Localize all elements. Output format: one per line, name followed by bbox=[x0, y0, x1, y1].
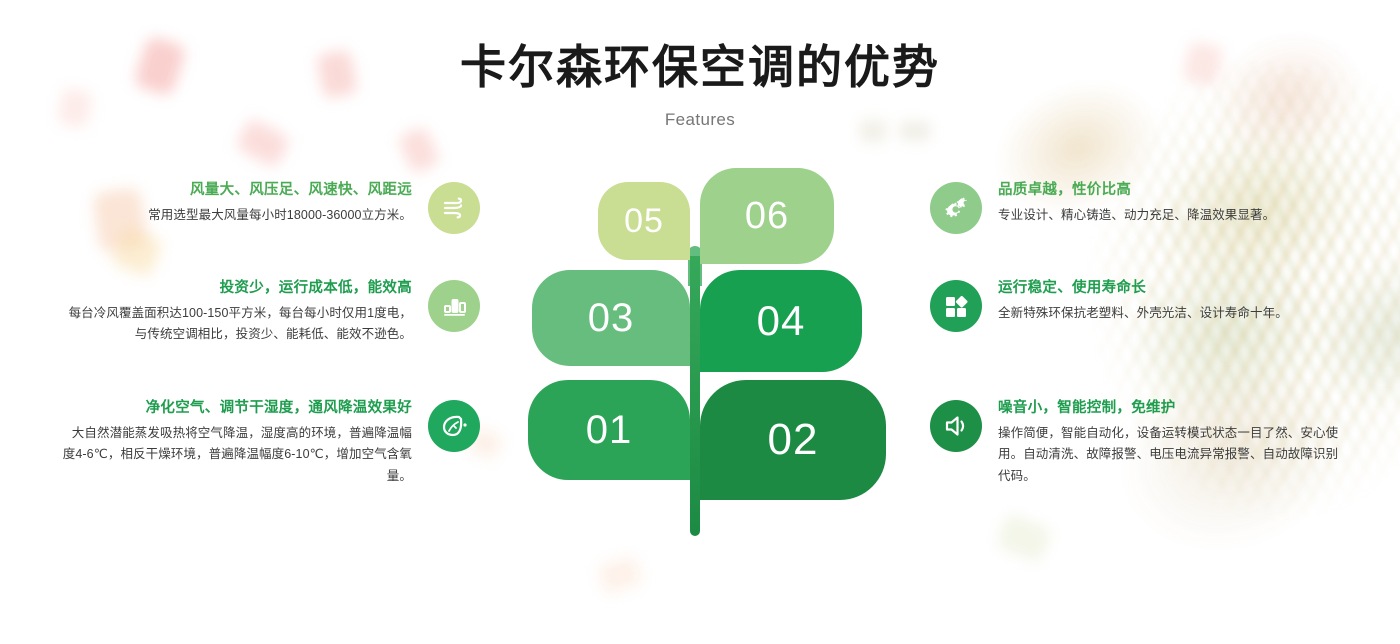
confetti-blob bbox=[995, 512, 1053, 563]
confetti-blob bbox=[397, 126, 441, 175]
slide-canvas: 卡尔森环保空调的优势 Features 风量大、风压足、风速快、风距远 常用选型… bbox=[0, 0, 1400, 644]
blocks-icon bbox=[930, 280, 982, 332]
feature-title: 风量大、风压足、风速快、风距远 bbox=[60, 180, 412, 202]
leaf-number-04[interactable]: 04 bbox=[700, 270, 862, 372]
feature-text: 风量大、风压足、风速快、风距远 常用选型最大风量每小时18000-36000立方… bbox=[60, 180, 428, 234]
leaf-number-02[interactable]: 02 bbox=[700, 380, 886, 500]
speaker-icon bbox=[930, 400, 982, 452]
slide-header: 卡尔森环保空调的优势 Features bbox=[0, 0, 1400, 130]
feature-title: 投资少，运行成本低，能效高 bbox=[60, 278, 412, 300]
feature-title: 噪音小，智能控制，免维护 bbox=[998, 398, 1350, 420]
gears-icon bbox=[930, 182, 982, 234]
feature-text: 运行稳定、使用寿命长 全新特殊环保抗老塑料、外壳光洁、设计寿命十年。 bbox=[982, 278, 1350, 332]
bar-chart-icon bbox=[428, 280, 480, 332]
feature-text: 投资少，运行成本低，能效高 每台冷风覆盖面积达100-150平方米，每台每小时仅… bbox=[60, 278, 428, 346]
feature-description: 大自然潜能蒸发吸热将空气降温，湿度高的环境，普遍降温幅度4-6℃，相反干燥环境，… bbox=[60, 423, 412, 488]
leaf-icon bbox=[428, 400, 480, 452]
page-title: 卡尔森环保空调的优势 bbox=[0, 40, 1400, 94]
leaf-number-01[interactable]: 01 bbox=[528, 380, 690, 480]
page-subtitle: Features bbox=[0, 110, 1400, 130]
feature-text: 噪音小，智能控制，免维护 操作简便，智能自动化，设备运转模式状态一目了然、安心使… bbox=[982, 398, 1350, 487]
feature-item[interactable]: 投资少，运行成本低，能效高 每台冷风覆盖面积达100-150平方米，每台每小时仅… bbox=[60, 278, 480, 346]
feature-description: 常用选型最大风量每小时18000-36000立方米。 bbox=[60, 205, 412, 227]
feature-text: 净化空气、调节干湿度，通风降温效果好 大自然潜能蒸发吸热将空气降温，湿度高的环境… bbox=[60, 398, 428, 487]
leaf-number-06[interactable]: 06 bbox=[700, 168, 834, 264]
feature-item[interactable]: 风量大、风压足、风速快、风距远 常用选型最大风量每小时18000-36000立方… bbox=[60, 180, 480, 234]
tree-stem bbox=[690, 256, 700, 536]
feature-description: 操作简便，智能自动化，设备运转模式状态一目了然、安心使用。自动清洗、故障报警、电… bbox=[998, 423, 1350, 488]
feature-item[interactable]: 噪音小，智能控制，免维护 操作简便，智能自动化，设备运转模式状态一目了然、安心使… bbox=[930, 398, 1350, 487]
leaf-number-03[interactable]: 03 bbox=[532, 270, 690, 366]
feature-description: 每台冷风覆盖面积达100-150平方米，每台每小时仅用1度电，与传统空调相比，投… bbox=[60, 303, 412, 346]
feature-description: 全新特殊环保抗老塑料、外壳光洁、设计寿命十年。 bbox=[998, 303, 1350, 325]
feature-item[interactable]: 净化空气、调节干湿度，通风降温效果好 大自然潜能蒸发吸热将空气降温，湿度高的环境… bbox=[60, 398, 480, 487]
feature-text: 品质卓越，性价比高 专业设计、精心铸造、动力充足、降温效果显著。 bbox=[982, 180, 1350, 234]
feature-title: 运行稳定、使用寿命长 bbox=[998, 278, 1350, 300]
leaf-tree-graphic: 05 06 03 04 01 02 bbox=[500, 160, 920, 580]
leaf-number-05[interactable]: 05 bbox=[598, 182, 690, 260]
feature-item[interactable]: 运行稳定、使用寿命长 全新特殊环保抗老塑料、外壳光洁、设计寿命十年。 bbox=[930, 278, 1350, 332]
feature-title: 净化空气、调节干湿度，通风降温效果好 bbox=[60, 398, 412, 420]
feature-description: 专业设计、精心铸造、动力充足、降温效果显著。 bbox=[998, 205, 1350, 227]
wind-icon bbox=[428, 182, 480, 234]
feature-title: 品质卓越，性价比高 bbox=[998, 180, 1350, 202]
feature-item[interactable]: 品质卓越，性价比高 专业设计、精心铸造、动力充足、降温效果显著。 bbox=[930, 180, 1350, 234]
